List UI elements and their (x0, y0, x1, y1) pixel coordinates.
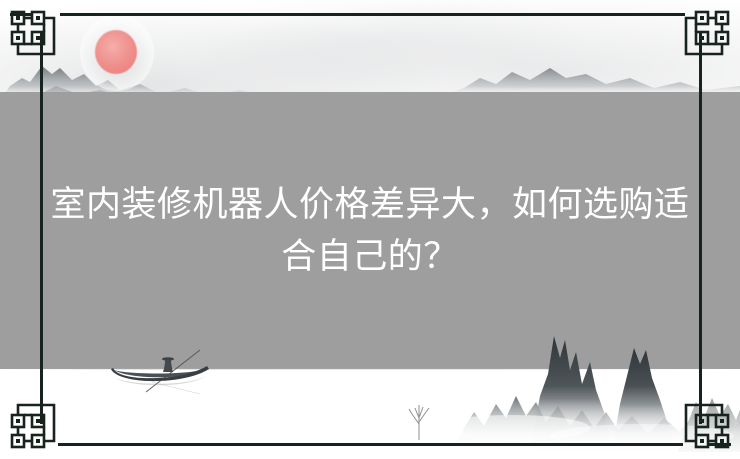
bare-tree-icon (404, 398, 434, 440)
corner-ornament-bottom-right (674, 393, 732, 451)
frame-line-bottom (58, 443, 683, 446)
frame-line-top (60, 13, 685, 16)
corner-ornament-bottom-left (8, 393, 66, 451)
page-title: 室内装修机器人价格差异大，如何选购适合自己的？ (46, 179, 694, 283)
ink-wash-title-card: 室内装修机器人价格差异大，如何选购适合自己的？ (0, 0, 740, 459)
frame-line-right (699, 32, 702, 424)
frame-line-left (40, 32, 43, 424)
corner-ornament-top-left (8, 8, 66, 66)
fisherman-boat-icon (108, 348, 214, 396)
corner-ornament-top-right (674, 8, 732, 66)
red-sun-icon (95, 30, 137, 74)
